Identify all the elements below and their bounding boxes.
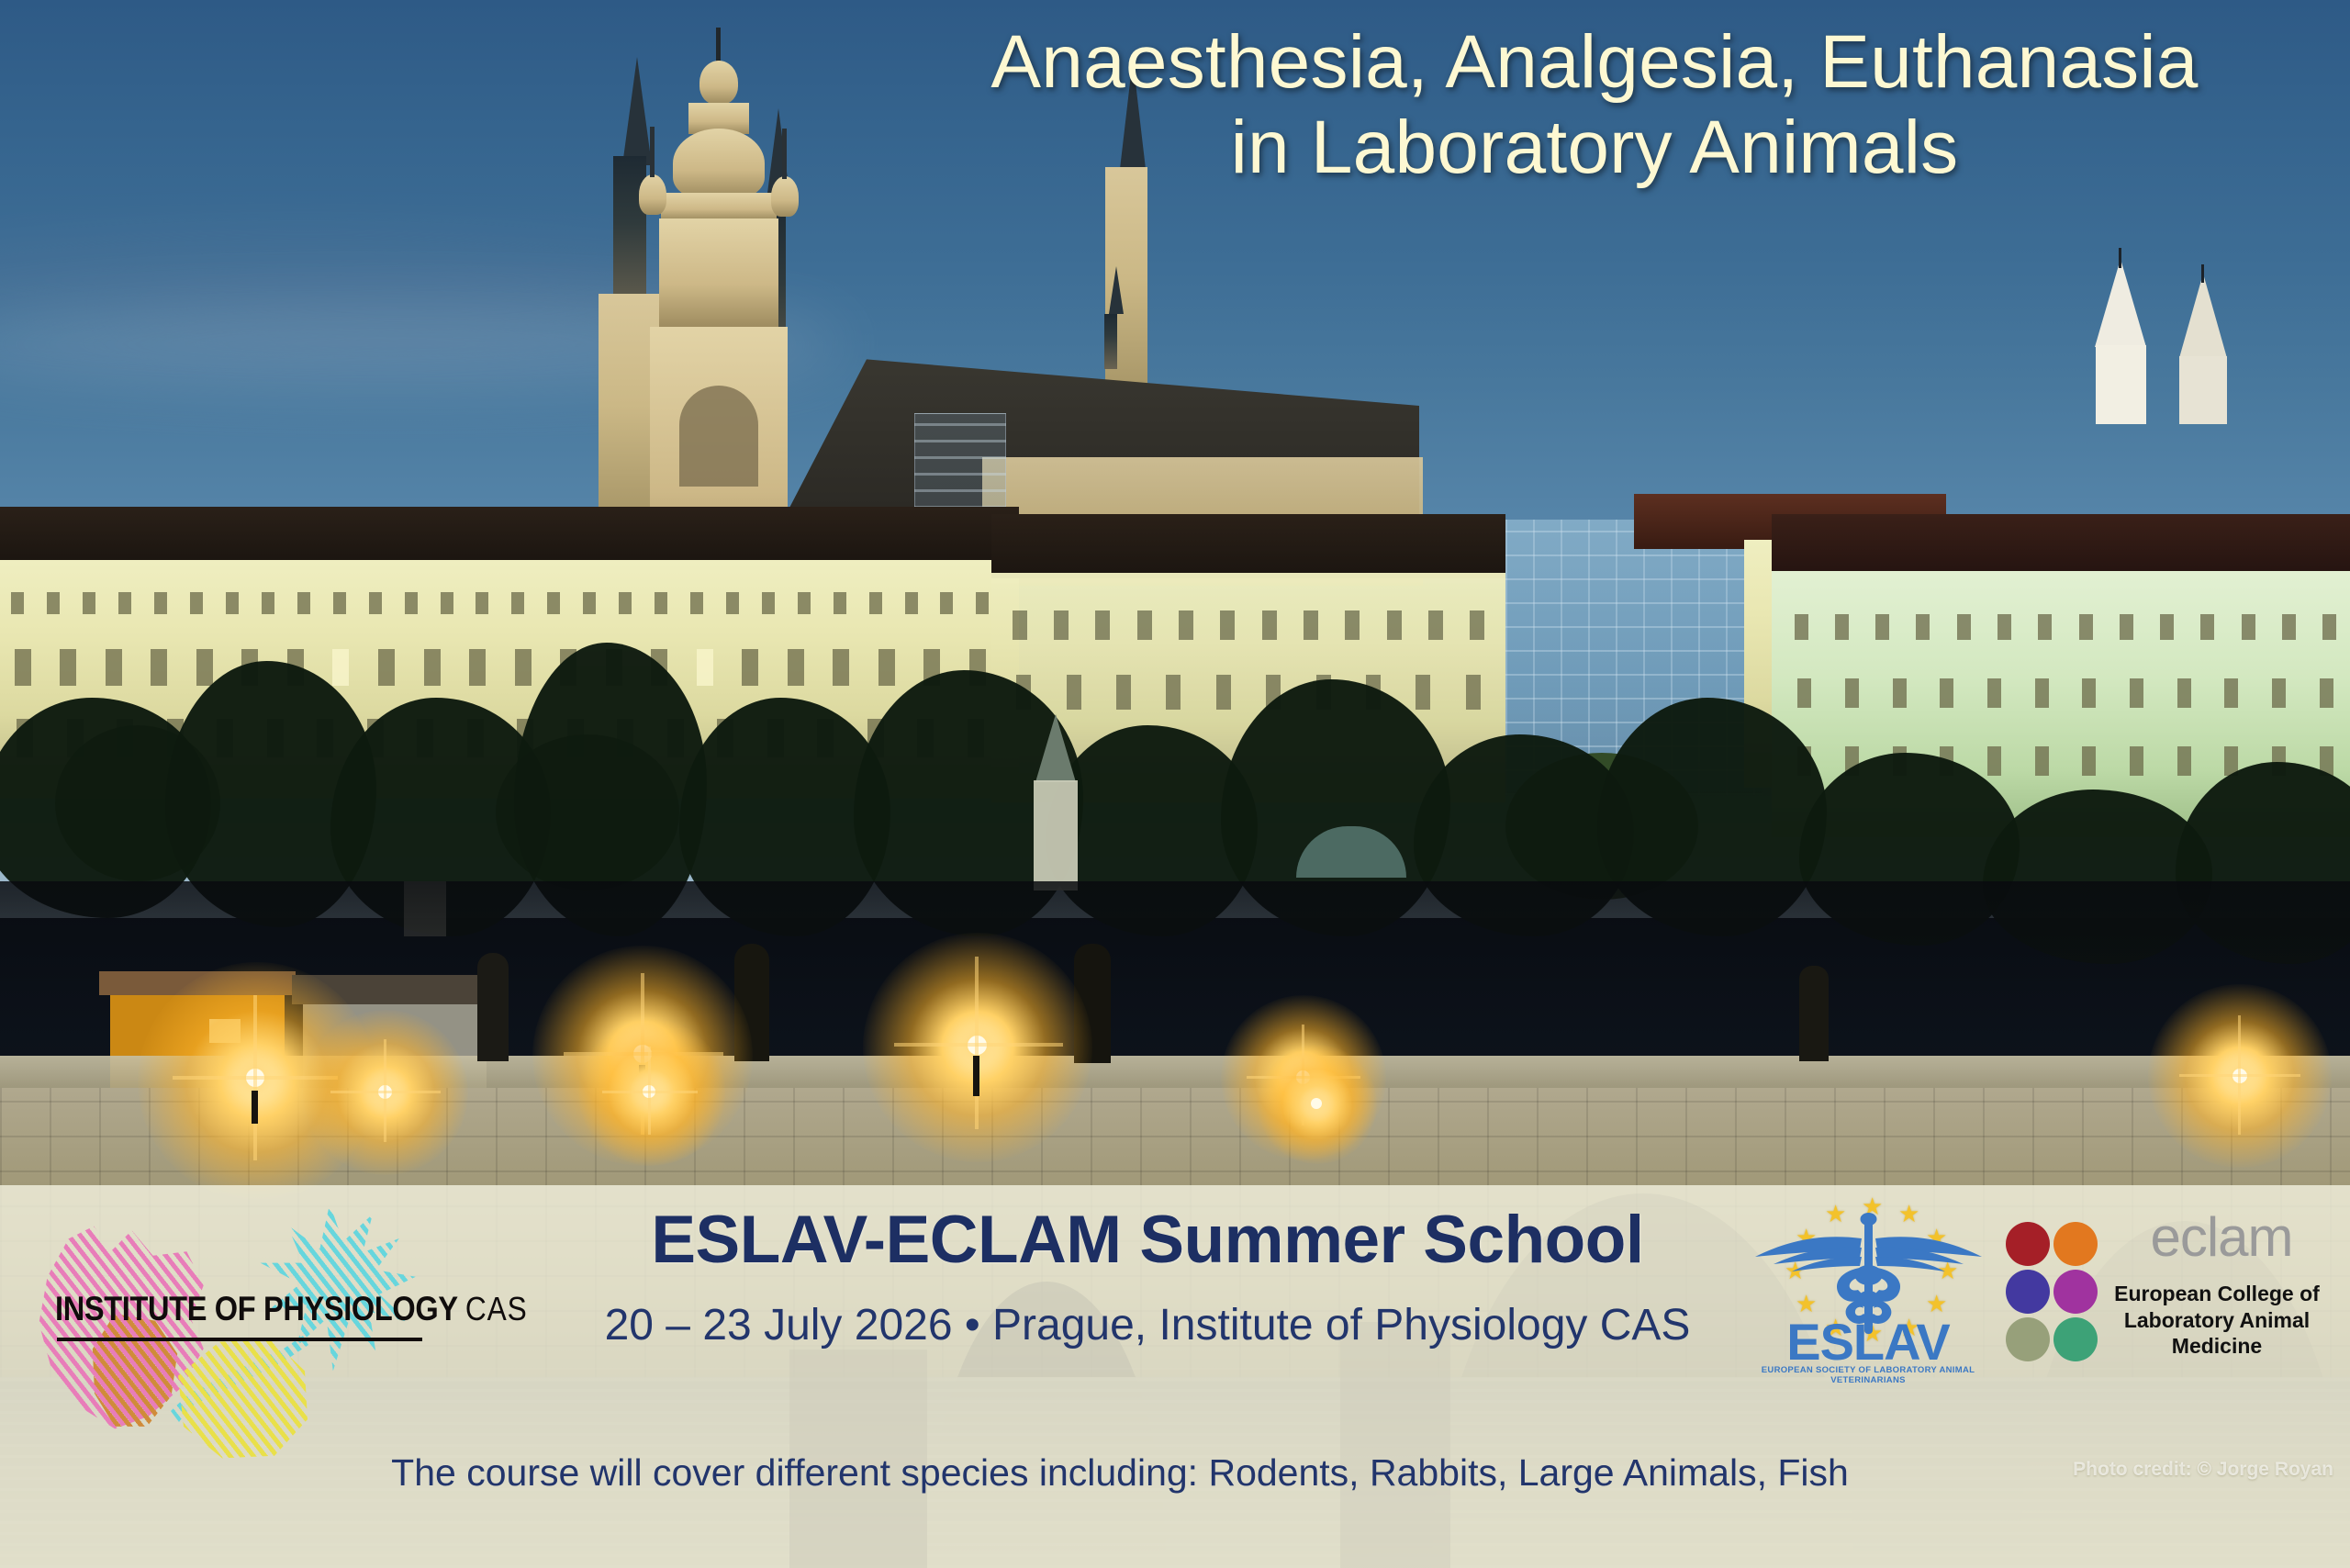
tower-cross — [2119, 248, 2121, 268]
dot-green — [2053, 1317, 2098, 1361]
poster-title: Anaesthesia, Analgesia, Euthanasia in La… — [892, 20, 2297, 190]
institute-underline — [57, 1338, 422, 1341]
dot-orange — [2053, 1222, 2098, 1266]
window-row — [0, 648, 1001, 687]
cupola-small — [699, 61, 738, 105]
event-dates-location: 20 – 23 July 2026 • Prague, Institute of… — [587, 1300, 1707, 1350]
species-coverage-line: The course will cover different species … — [239, 1451, 2001, 1495]
eclam-subtitle-line1: European College of — [2094, 1281, 2340, 1307]
poster-title-line2: in Laboratory Animals — [892, 106, 2297, 191]
window-row — [999, 674, 1498, 711]
palace-roof-mid — [991, 514, 1505, 578]
bridge-statue — [1074, 944, 1111, 1063]
tower-roof-right — [2179, 274, 2227, 358]
window-row — [1781, 613, 2350, 641]
white-twin-towers — [2084, 237, 2332, 457]
poster-title-line1: Anaesthesia, Analgesia, Euthanasia — [892, 20, 2297, 106]
tower-body-left — [2096, 345, 2146, 424]
house-roof — [99, 971, 296, 995]
event-headline: ESLAV-ECLAM Summer School — [587, 1202, 1707, 1278]
eslav-wordmark: ESLAV — [1744, 1312, 1992, 1372]
dot-dark-red — [2006, 1222, 2050, 1266]
eclam-wordmark: eclam — [2107, 1205, 2336, 1269]
photo-credit: Photo credit: © Jorge Royan — [2073, 1459, 2333, 1481]
window-row — [0, 591, 1001, 615]
palace-roof-left — [0, 507, 1019, 564]
eslav-tagline: EUROPEAN SOCIETY OF LABORATORY ANIMAL VE… — [1744, 1365, 1992, 1385]
bell-tower-body — [659, 218, 778, 329]
institute-name: INSTITUTE OF PHYSIOLOGY CAS — [55, 1290, 528, 1328]
eclam-subtitle: European College of Laboratory Animal Me… — [2094, 1281, 2340, 1360]
bridge-statue — [477, 953, 509, 1061]
church-spire — [1035, 714, 1076, 782]
minor-spire — [1109, 266, 1124, 314]
institute-of-physiology-logo: INSTITUTE OF PHYSIOLOGY CAS — [9, 1202, 523, 1450]
dot-sage — [2006, 1317, 2050, 1361]
turret-spike — [650, 127, 655, 177]
dot-purple — [2053, 1270, 2098, 1314]
onion-turret-right — [771, 176, 799, 217]
lit-window — [209, 1019, 241, 1043]
tower-cornice — [661, 193, 777, 220]
bridge-statue — [734, 944, 769, 1061]
window-row — [1781, 678, 2350, 709]
tower-cross — [2201, 264, 2204, 283]
eslav-logo: ★ ★ ★ ★ ★ ★ ★ ★ ★ ★ ★ ★ — [1744, 1194, 1992, 1406]
spire-tip — [622, 57, 652, 165]
minor-spire-shaft — [1104, 314, 1117, 369]
institute-name-cas: CAS — [465, 1290, 528, 1327]
window-row — [999, 610, 1498, 641]
house-roof — [292, 975, 499, 1004]
church-tower — [1034, 780, 1078, 890]
institute-name-bold: INSTITUTE OF PHYSIOLOGY — [55, 1290, 457, 1327]
tower-body-right — [2179, 356, 2227, 424]
tower-roof-left — [2095, 259, 2146, 347]
bridge-railing — [0, 1056, 2350, 1092]
cupola-main — [673, 129, 765, 198]
onion-turret-left — [639, 174, 666, 215]
rose-window-arch — [679, 386, 758, 487]
bridge-statue — [1799, 966, 1829, 1061]
eclam-logo: eclam European College of Laboratory Ani… — [2006, 1204, 2345, 1396]
bottom-banner: INSTITUTE OF PHYSIOLOGY CAS ESLAV-ECLAM … — [0, 1185, 2350, 1568]
palace-roof-right — [1772, 514, 2350, 577]
poster-root: Anaesthesia, Analgesia, Euthanasia in La… — [0, 0, 2350, 1568]
dot-blue — [2006, 1270, 2050, 1314]
eclam-subtitle-line2: Laboratory Animal Medicine — [2094, 1307, 2340, 1360]
turret-spike — [782, 129, 787, 179]
